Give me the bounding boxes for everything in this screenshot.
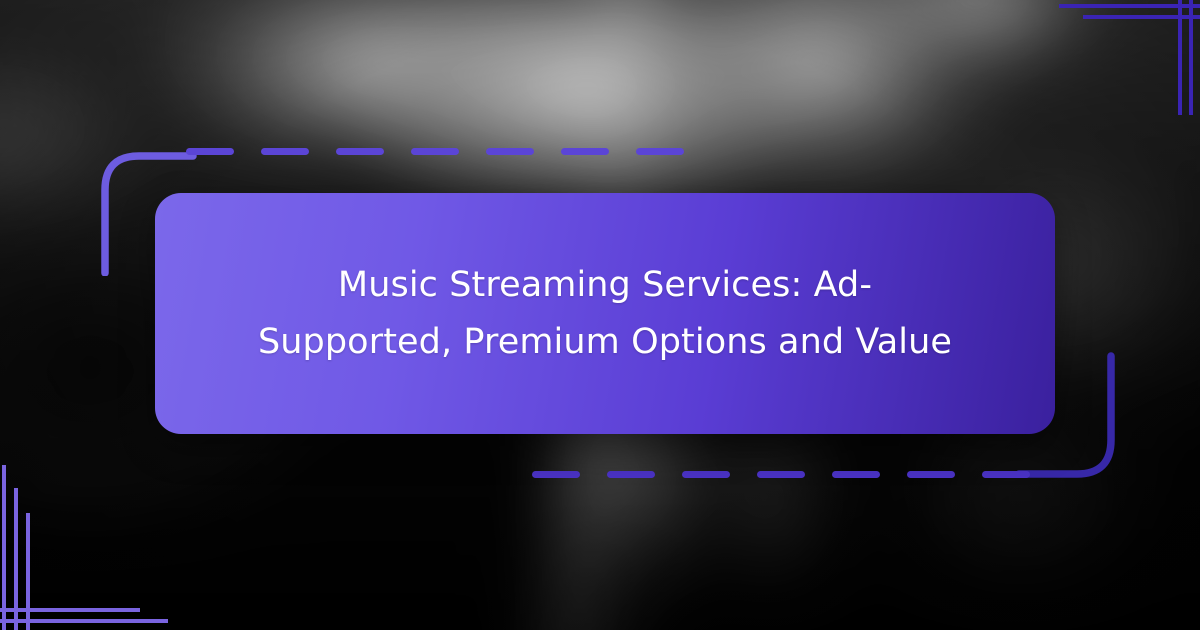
- dash-segment: [607, 471, 655, 478]
- frame-line-vertical-outer: [1189, 0, 1193, 115]
- dash-segment: [757, 471, 805, 478]
- dash-segment: [261, 148, 309, 155]
- dash-segment: [682, 471, 730, 478]
- page-title: Music Streaming Services: Ad-Supported, …: [255, 257, 955, 370]
- dash-segment: [832, 471, 880, 478]
- frame-line-vertical-outer: [2, 465, 6, 630]
- title-card: Music Streaming Services: Ad-Supported, …: [155, 193, 1055, 434]
- dash-segment: [186, 148, 234, 155]
- dash-segment: [636, 148, 684, 155]
- og-image-canvas: Music Streaming Services: Ad-Supported, …: [0, 0, 1200, 630]
- dash-segment: [561, 148, 609, 155]
- frame-line-horizontal-outer: [0, 619, 168, 623]
- dashed-rule-top: [186, 148, 684, 155]
- dashed-rule-bottom: [532, 471, 1030, 478]
- dash-segment: [336, 148, 384, 155]
- dash-segment: [486, 148, 534, 155]
- frame-line-vertical-inner: [1178, 0, 1182, 115]
- dash-segment: [532, 471, 580, 478]
- dash-segment: [411, 148, 459, 155]
- frame-line-vertical-inner: [26, 513, 30, 630]
- dash-segment: [907, 471, 955, 478]
- dash-segment: [982, 471, 1030, 478]
- frame-line-horizontal-inner: [1083, 15, 1200, 19]
- frame-line-horizontal-inner: [0, 608, 140, 612]
